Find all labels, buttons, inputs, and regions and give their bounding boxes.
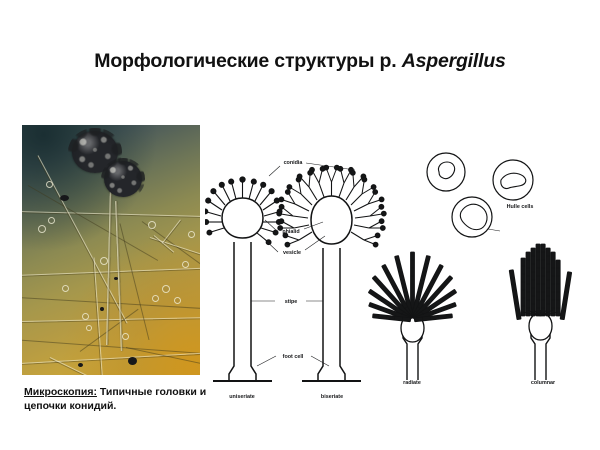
label-biseriate: biseriate [321,394,343,400]
page-title: Морфологические структуры р. Aspergillus [0,50,600,73]
columnar-structure: columnar [509,244,572,386]
label-stipe: stipe [285,299,298,305]
micrograph-figure [22,125,200,375]
label-columnar: columnar [531,380,556,386]
label-foot-cell: foot cell [283,354,304,360]
label-hulle-cells: Hulle cells [507,204,534,210]
page-title-species-text: Aspergillus [402,50,506,72]
radiate-structure: radiate [368,252,456,386]
page-title-genus-text: Морфологические структуры р. [94,50,401,72]
uniseriate-structure [205,177,282,381]
conidial-head-mass [104,161,142,197]
label-uniseriate: uniseriate [229,394,254,400]
micrograph-caption-label: Микроскопия: [24,386,97,398]
label-radiate: radiate [403,380,421,386]
label-vesicle: vesicle [283,250,301,256]
aspergillus-light-microscopy-photo [22,125,200,375]
diagram-svg: conidia phialid vesicle stipe foot cell … [205,130,595,420]
label-phialid: phialid [282,229,299,235]
slide-canvas: Морфологические структуры р. Aspergillus [0,0,600,450]
aspergillus-structures-diagram: conidia phialid vesicle stipe foot cell … [205,130,595,420]
micrograph-caption: Микроскопия: Типичные головки и цепочки … [24,386,234,413]
label-conidia: conidia [284,160,304,166]
biseriate-structure [277,165,386,381]
hulle-cells-structure: Hulle cells [427,153,533,237]
